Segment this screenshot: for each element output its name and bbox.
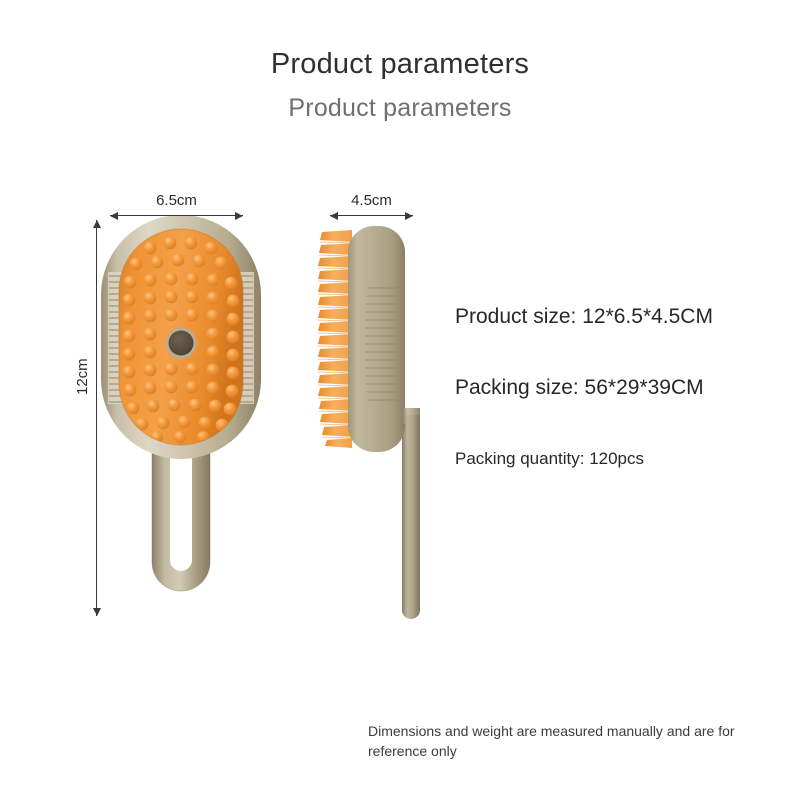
front-width-arrow bbox=[110, 215, 243, 216]
side-handle-stem bbox=[402, 415, 420, 619]
spec-packing-quantity: Packing quantity: 120pcs bbox=[455, 449, 775, 469]
front-height-arrow bbox=[96, 220, 97, 616]
side-stem-joint bbox=[402, 408, 420, 424]
product-parameters-page: Product parameters Product parameters bbox=[0, 0, 800, 800]
side-body bbox=[348, 226, 405, 452]
spec-list: Product size: 12*6.5*4.5CM Packing size:… bbox=[455, 305, 775, 469]
disclaimer-note: Dimensions and weight are measured manua… bbox=[368, 722, 768, 762]
center-hole bbox=[169, 331, 194, 356]
side-view-brush bbox=[318, 226, 420, 619]
side-width-arrow bbox=[330, 215, 413, 216]
spec-packing-size: Packing size: 56*29*39CM bbox=[455, 376, 775, 400]
side-width-label: 4.5cm bbox=[330, 192, 413, 209]
front-width-label: 6.5cm bbox=[110, 192, 243, 209]
front-view-brush bbox=[101, 215, 261, 591]
side-bristles bbox=[318, 230, 352, 448]
front-height-label: 12cm bbox=[74, 358, 91, 395]
spec-product-size: Product size: 12*6.5*4.5CM bbox=[455, 305, 775, 329]
